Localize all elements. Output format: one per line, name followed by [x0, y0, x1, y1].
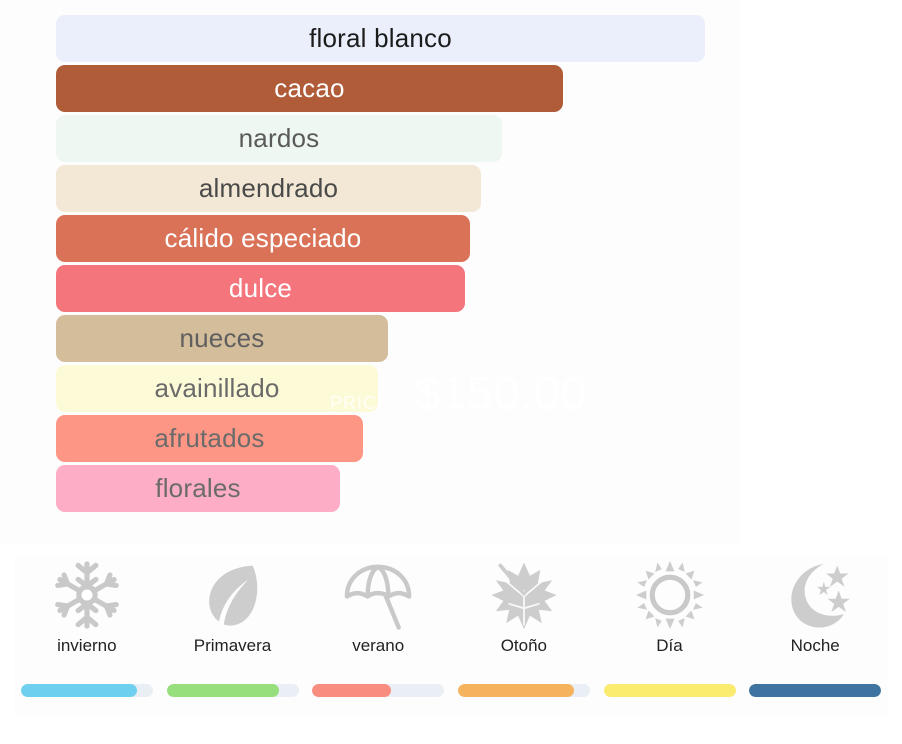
legend-label: Otoño	[501, 636, 547, 656]
bar-florales[interactable]: florales	[56, 465, 340, 512]
bar-nardos[interactable]: nardos	[56, 115, 502, 162]
bar-row: afrutados	[56, 415, 716, 462]
bar-avainillado[interactable]: avainillado	[56, 365, 378, 412]
progress-track-dia[interactable]	[604, 684, 736, 697]
bar-row: cálido especiado	[56, 215, 716, 262]
legend-label: Día	[656, 636, 682, 656]
bar-cacao[interactable]: cacao	[56, 65, 563, 112]
legend-label: Noche	[791, 636, 840, 656]
progress-cell	[742, 682, 888, 698]
progress-track-otono[interactable]	[458, 684, 590, 697]
snowflake-icon	[45, 556, 129, 634]
progress-cell	[451, 682, 597, 698]
bar-label: cacao	[274, 75, 344, 103]
bar-calido-especiado[interactable]: cálido especiado	[56, 215, 470, 262]
progress-cell	[597, 682, 743, 698]
legend-item-otono[interactable]: Otoño	[451, 556, 597, 674]
bar-label: florales	[155, 475, 240, 503]
bar-label: nardos	[239, 125, 320, 153]
bar-row: avainillado	[56, 365, 716, 412]
bar-label: floral blanco	[309, 25, 452, 53]
bar-row: cacao	[56, 65, 716, 112]
bar-afrutados[interactable]: afrutados	[56, 415, 363, 462]
bar-row: dulce	[56, 265, 716, 312]
bar-row: florales	[56, 465, 716, 512]
legend-items: invierno Primavera	[14, 556, 888, 674]
season-legend-panel: invierno Primavera	[14, 556, 888, 716]
bar-nueces[interactable]: nueces	[56, 315, 388, 362]
progress-track-invierno[interactable]	[21, 684, 153, 697]
bar-label: almendrado	[199, 175, 338, 203]
bar-floral-blanco[interactable]: floral blanco	[56, 15, 705, 62]
bar-row: floral blanco	[56, 15, 716, 62]
bar-row: nardos	[56, 115, 716, 162]
legend-item-dia[interactable]: Día	[597, 556, 743, 674]
chart-panel: floral blanco cacao nardos almendrado cá…	[0, 0, 740, 545]
leaf-icon	[191, 556, 275, 634]
bar-label: avainillado	[154, 375, 279, 403]
bar-label: cálido especiado	[165, 225, 362, 253]
umbrella-icon	[336, 556, 420, 634]
bar-row: nueces	[56, 315, 716, 362]
bar-row: almendrado	[56, 165, 716, 212]
bar-label: nueces	[179, 325, 264, 353]
bar-chart: floral blanco cacao nardos almendrado cá…	[56, 15, 716, 515]
progress-track-noche[interactable]	[749, 684, 881, 697]
progress-track-primavera[interactable]	[167, 684, 299, 697]
progress-fill	[312, 684, 391, 697]
progress-fill	[167, 684, 279, 697]
sun-icon	[628, 556, 712, 634]
bar-label: dulce	[229, 275, 292, 303]
legend-label: Primavera	[194, 636, 271, 656]
progress-fill	[749, 684, 881, 697]
progress-cell	[305, 682, 451, 698]
bar-dulce[interactable]: dulce	[56, 265, 465, 312]
legend-label: invierno	[57, 636, 117, 656]
moon-stars-icon	[773, 556, 857, 634]
progress-fill	[604, 684, 736, 697]
progress-cell	[160, 682, 306, 698]
legend-item-noche[interactable]: Noche	[742, 556, 888, 674]
legend-item-invierno[interactable]: invierno	[14, 556, 160, 674]
legend-item-verano[interactable]: verano	[305, 556, 451, 674]
legend-label: verano	[352, 636, 404, 656]
legend-progress-bars	[14, 682, 888, 698]
progress-fill	[458, 684, 574, 697]
bar-label: afrutados	[154, 425, 264, 453]
progress-fill	[21, 684, 137, 697]
progress-track-verano[interactable]	[312, 684, 444, 697]
legend-item-primavera[interactable]: Primavera	[160, 556, 306, 674]
bar-almendrado[interactable]: almendrado	[56, 165, 481, 212]
progress-cell	[14, 682, 160, 698]
maple-leaf-icon	[482, 556, 566, 634]
